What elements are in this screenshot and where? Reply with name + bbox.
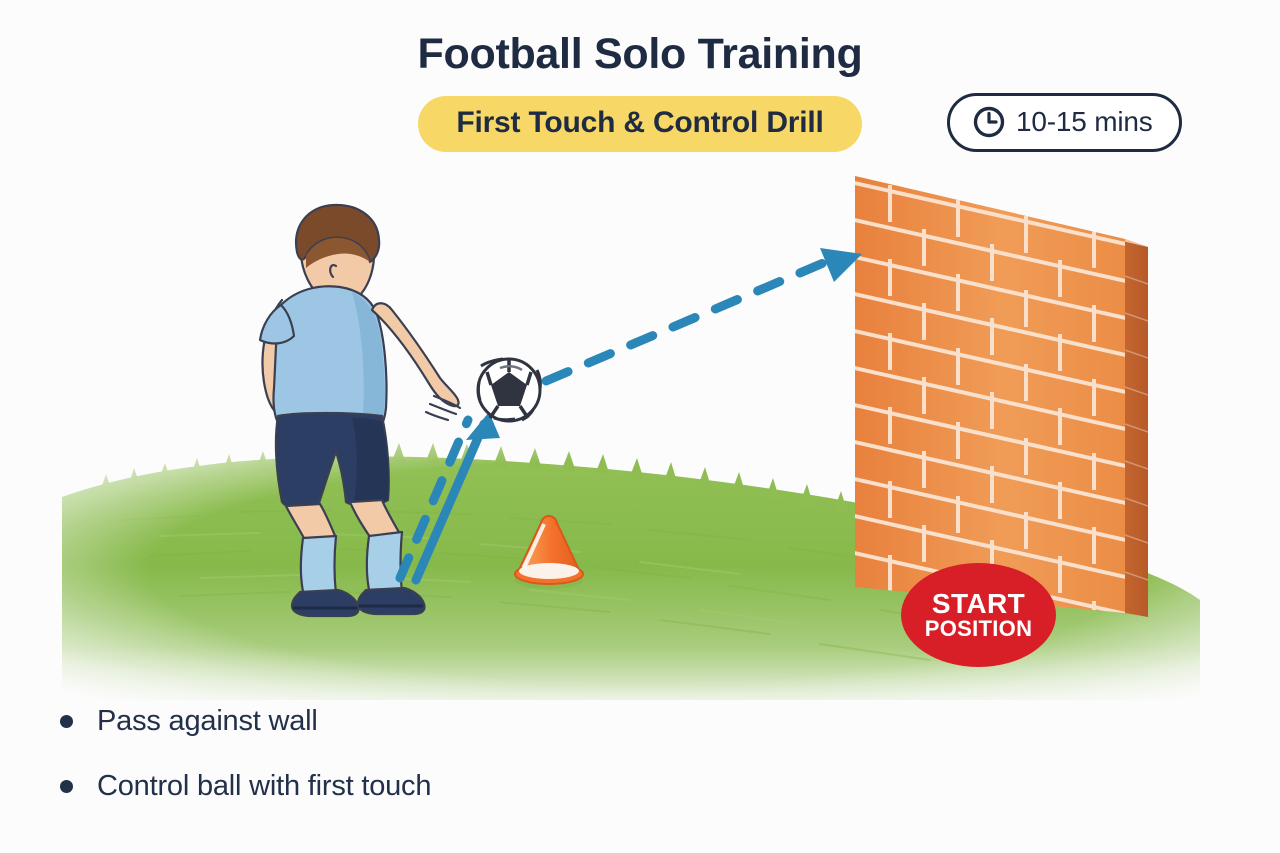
bullet-dot-icon [60,780,73,793]
start-label-line2: POSITION [925,618,1033,640]
clock-icon [972,105,1006,139]
start-label-line1: START [932,590,1025,619]
page-title: Football Solo Training [0,30,1280,79]
illustration-page: Football Solo Training First Touch & Con… [0,0,1280,853]
subtitle-badge: First Touch & Control Drill [418,96,861,152]
list-item: Pass against wall [60,705,780,738]
start-position-badge: START POSITION [901,563,1056,667]
bullet-dot-icon [60,715,73,728]
list-item: Control ball with first touch [60,770,780,803]
instruction-text: Control ball with first touch [97,770,431,803]
instruction-text: Pass against wall [97,705,318,738]
instruction-list: Pass against wall Control ball with firs… [60,705,780,835]
duration-badge: 10-15 mins [947,93,1182,152]
pass-trajectory-arrow [546,248,862,381]
duration-text: 10-15 mins [1016,106,1153,138]
soccer-ball [478,359,540,421]
